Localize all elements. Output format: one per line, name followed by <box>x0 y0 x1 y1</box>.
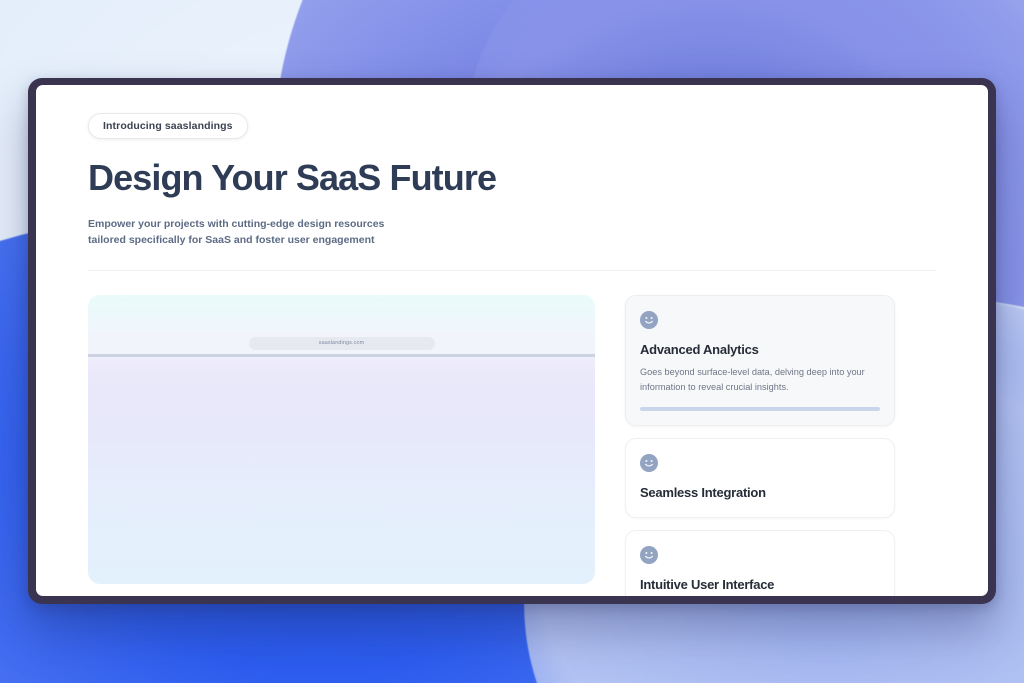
browser-preview-mockup: saaslandings.com <box>88 295 595 584</box>
page-title: Design Your SaaS Future <box>88 159 936 198</box>
preview-chrome-divider <box>88 354 595 357</box>
feature-card-intuitive-user-interface[interactable]: Intuitive User Interface <box>625 530 895 596</box>
smiley-face-icon <box>640 454 658 472</box>
feature-card-title: Advanced Analytics <box>640 342 880 357</box>
feature-card-description: Goes beyond surface-level data, delving … <box>640 365 880 394</box>
feature-card-list: Advanced Analytics Goes beyond surface-l… <box>625 295 895 596</box>
feature-card-progress-bar <box>640 407 880 411</box>
feature-card-seamless-integration[interactable]: Seamless Integration <box>625 438 895 518</box>
feature-card-title: Seamless Integration <box>640 485 880 500</box>
hero-subtitle: Empower your projects with cutting-edge … <box>88 216 418 249</box>
content-columns: saaslandings.com <box>88 295 936 596</box>
feature-card-advanced-analytics[interactable]: Advanced Analytics Goes beyond surface-l… <box>625 295 895 426</box>
preview-top-chrome <box>88 295 595 332</box>
preview-url-bar: saaslandings.com <box>249 337 435 350</box>
smiley-face-icon <box>640 311 658 329</box>
device-screen: Introducing saaslandings Design Your Saa… <box>36 85 988 596</box>
intro-badge[interactable]: Introducing saaslandings <box>88 113 248 139</box>
smiley-face-icon <box>640 546 658 564</box>
preview-url-row: saaslandings.com <box>88 332 595 354</box>
feature-card-title: Intuitive User Interface <box>640 577 880 592</box>
section-divider <box>88 270 936 271</box>
landing-page: Introducing saaslandings Design Your Saa… <box>36 85 988 596</box>
device-frame: Introducing saaslandings Design Your Saa… <box>28 78 996 604</box>
